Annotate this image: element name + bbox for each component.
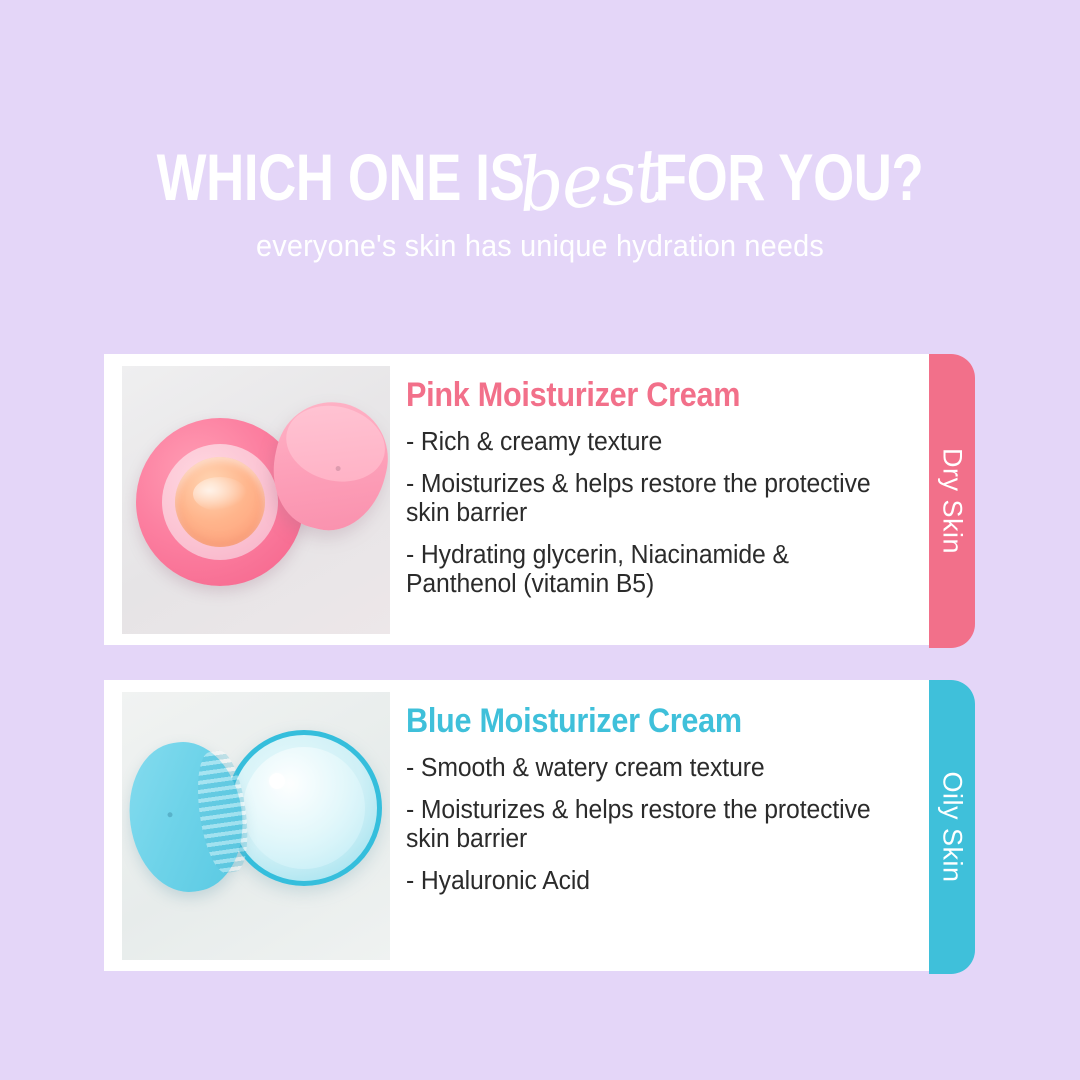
page-subtitle: everyone's skin has unique hydration nee… bbox=[38, 228, 1042, 264]
headline-part1: WHICH ONE IS bbox=[157, 137, 525, 217]
page-headline: WHICH ONE IS best FOR YOU? bbox=[108, 137, 972, 217]
skin-type-tab-dry-label: Dry Skin bbox=[937, 448, 968, 554]
product-info-pink: Pink Moisturizer Cream - Rich & creamy t… bbox=[390, 354, 929, 612]
pink-cream-icon bbox=[175, 457, 265, 547]
headline-script-word: best bbox=[510, 135, 669, 226]
skin-type-tab-oily-label: Oily Skin bbox=[937, 771, 968, 882]
product-title-pink: Pink Moisturizer Cream bbox=[406, 376, 850, 414]
list-item: - Moisturizes & helps restore the protec… bbox=[406, 470, 884, 528]
product-title-blue: Blue Moisturizer Cream bbox=[406, 702, 850, 740]
product-bullets-pink: - Rich & creamy texture - Moisturizes & … bbox=[406, 428, 899, 599]
list-item: - Hyaluronic Acid bbox=[406, 867, 884, 896]
list-item: - Hydrating glycerin, Niacinamide & Pant… bbox=[406, 541, 884, 599]
list-item: - Moisturizes & helps restore the protec… bbox=[406, 796, 884, 854]
list-item: - Smooth & watery cream texture bbox=[406, 754, 884, 783]
cream-highlight-icon bbox=[193, 477, 247, 511]
product-info-blue: Blue Moisturizer Cream - Smooth & watery… bbox=[390, 680, 929, 909]
skin-type-tab-oily[interactable]: Oily Skin bbox=[929, 680, 975, 974]
product-photo-pink bbox=[122, 366, 390, 634]
blue-gel-icon bbox=[243, 747, 365, 869]
product-photo-blue bbox=[122, 692, 390, 960]
list-item: - Rich & creamy texture bbox=[406, 428, 884, 457]
blue-jar-body-icon bbox=[226, 730, 382, 886]
pink-jar-inner-icon bbox=[162, 444, 278, 560]
product-bullets-blue: - Smooth & watery cream texture - Moistu… bbox=[406, 754, 899, 896]
product-card-pink[interactable]: Pink Moisturizer Cream - Rich & creamy t… bbox=[104, 354, 929, 645]
product-card-blue[interactable]: Blue Moisturizer Cream - Smooth & watery… bbox=[104, 680, 929, 971]
headline-part2: FOR YOU? bbox=[655, 137, 924, 217]
blue-lid-dot-icon bbox=[167, 812, 173, 818]
gel-bubble-icon bbox=[269, 773, 285, 789]
skin-type-tab-dry[interactable]: Dry Skin bbox=[929, 354, 975, 648]
